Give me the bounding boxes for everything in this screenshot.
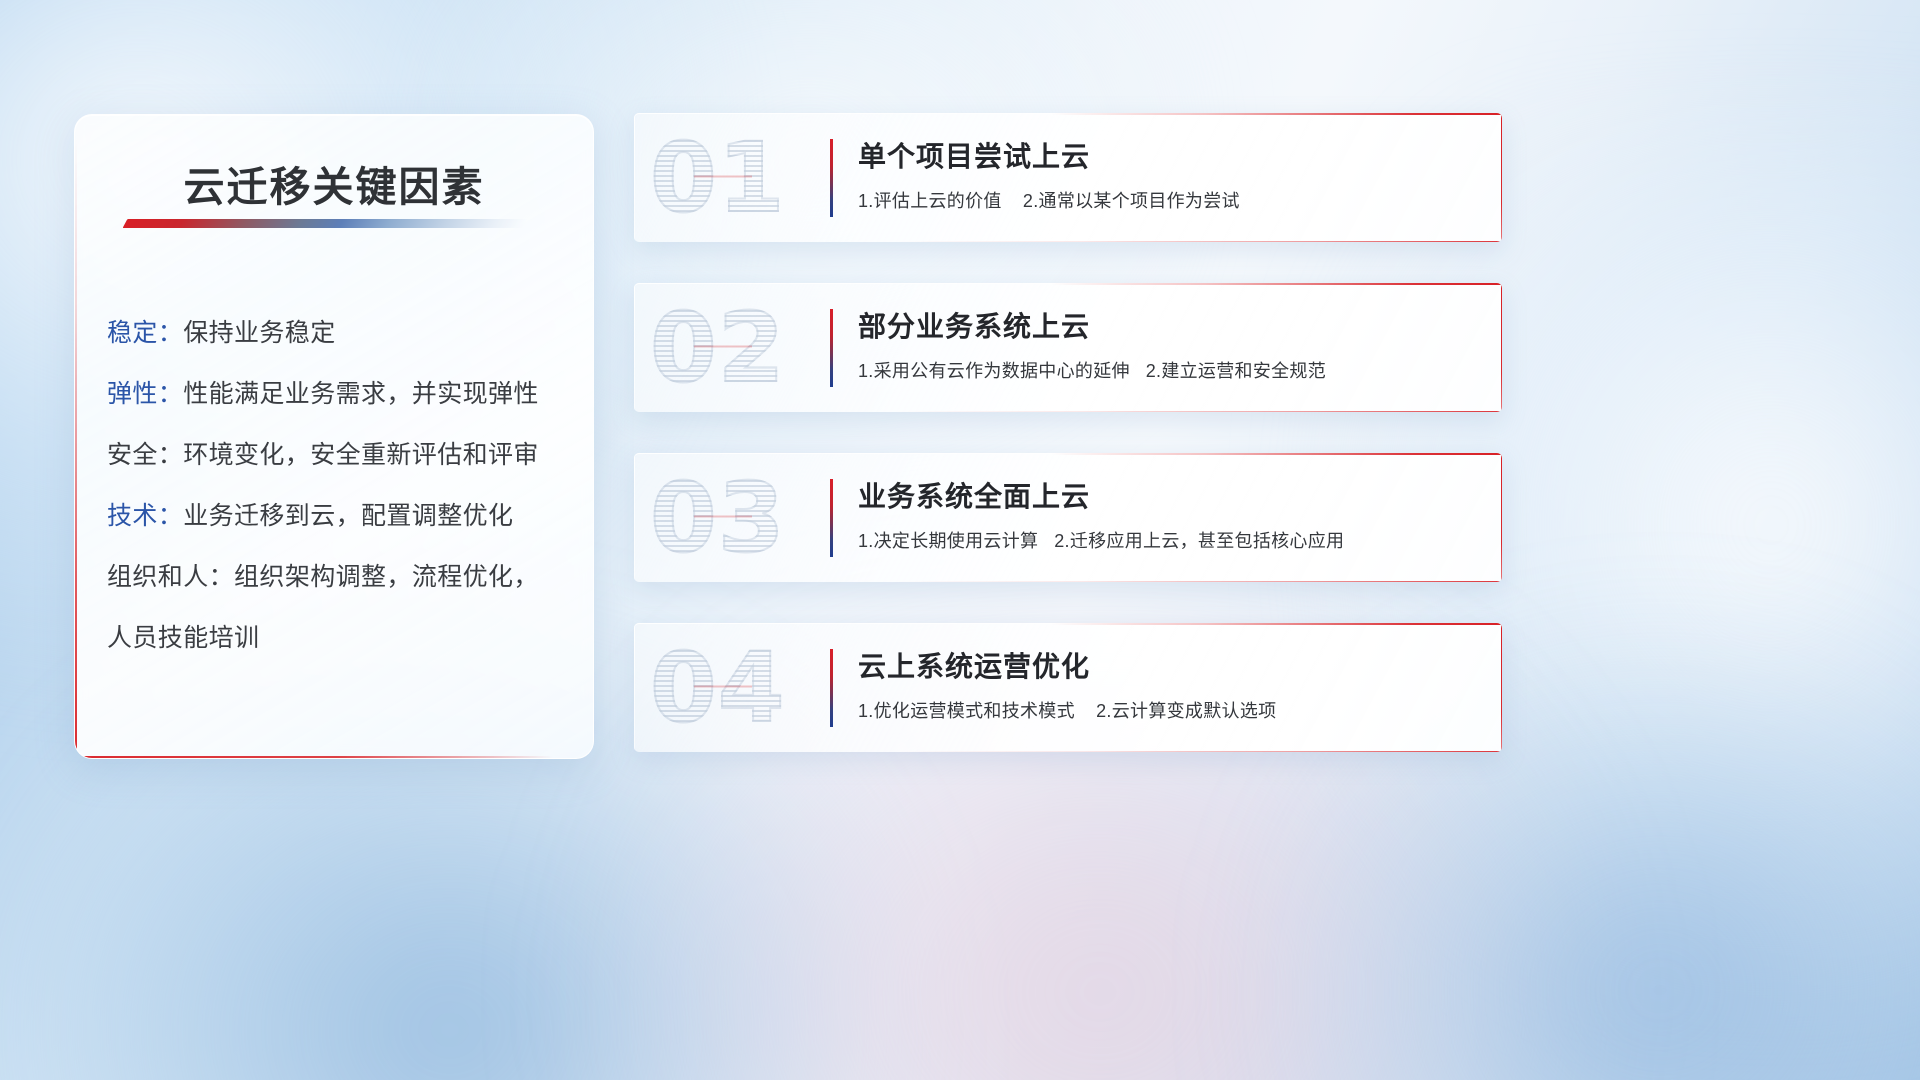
stage-description: 1.优化运营模式和技术模式 2.云计算变成默认选项 [858, 698, 1482, 724]
stage-title: 单个项目尝试上云 [858, 137, 1482, 177]
stage-body: 云上系统运营优化 1.优化运营模式和技术模式 2.云计算变成默认选项 [858, 647, 1482, 724]
card-edge-top [634, 623, 1502, 625]
stage-description: 1.采用公有云作为数据中心的延伸 2.建立运营和安全规范 [858, 358, 1482, 384]
factor-label: 稳定： [107, 319, 183, 347]
stage-number: 03 [650, 470, 786, 566]
stage-card-04[interactable]: 04 云上系统运营优化 1.优化运营模式和技术模式 2.云计算变成默认选项 [634, 623, 1502, 752]
stage-title: 部分业务系统上云 [858, 307, 1482, 347]
stage-body: 单个项目尝试上云 1.评估上云的价值 2.通常以某个项目作为尝试 [858, 137, 1482, 214]
stage-card-03[interactable]: 03 业务系统全面上云 1.决定长期使用云计算 2.迁移应用上云，甚至包括核心应… [634, 453, 1502, 582]
stage-card-02[interactable]: 02 部分业务系统上云 1.采用公有云作为数据中心的延伸 2.建立运营和安全规范 [634, 283, 1502, 412]
stage-number: 02 [650, 300, 786, 396]
factor-text: 组织架构调整，流程优化， [234, 563, 539, 591]
migration-stages-list: 01 单个项目尝试上云 1.评估上云的价值 2.通常以某个项目作为尝试 02 部… [634, 113, 1502, 752]
card-edge-right [1501, 283, 1503, 412]
card-edge-left [634, 453, 635, 582]
stage-divider-bar [830, 139, 833, 217]
stage-number: 04 [650, 640, 786, 736]
title-underline-rule [123, 219, 528, 228]
card-edge-bottom [634, 581, 1502, 583]
factor-item-elasticity: 弹性：性能满足业务需求，并实现弹性 [107, 364, 571, 425]
card-edge-left [634, 623, 635, 752]
card-edge-left [634, 283, 635, 412]
stage-title: 业务系统全面上云 [858, 477, 1482, 517]
card-edge-right [1501, 623, 1503, 752]
factor-text: 性能满足业务需求，并实现弹性 [183, 380, 539, 408]
factor-item-stability: 稳定：保持业务稳定 [107, 303, 571, 364]
card-edge-top [634, 113, 1502, 115]
factor-text: 人员技能培训 [107, 624, 259, 652]
stage-divider-bar [830, 479, 833, 557]
factor-label: 安全： [107, 441, 183, 469]
stage-divider-bar [830, 649, 833, 727]
card-edge-bottom [634, 411, 1502, 413]
factor-label: 组织和人： [107, 563, 234, 591]
stage-description: 1.评估上云的价值 2.通常以某个项目作为尝试 [858, 188, 1482, 214]
factor-item-technology: 技术：业务迁移到云，配置调整优化 [107, 486, 571, 547]
card-edge-left [634, 113, 635, 242]
card-edge-top [634, 453, 1502, 455]
card-edge-bottom [634, 241, 1502, 243]
card-edge-right [1501, 453, 1503, 582]
factor-label: 弹性： [107, 380, 183, 408]
card-edge-bottom [634, 751, 1502, 753]
factor-text: 业务迁移到云，配置调整优化 [183, 502, 513, 530]
factor-item-organization: 组织和人：组织架构调整，流程优化， [107, 547, 571, 608]
stage-number: 01 [650, 130, 786, 226]
factor-label: 技术： [107, 502, 183, 530]
key-factors-list: 稳定：保持业务稳定 弹性：性能满足业务需求，并实现弹性 安全：环境变化，安全重新… [107, 303, 571, 669]
card-accent-edge-left [75, 137, 77, 758]
key-factors-card: 云迁移关键因素 稳定：保持业务稳定 弹性：性能满足业务需求，并实现弹性 安全：环… [74, 114, 594, 759]
factor-text: 保持业务稳定 [183, 319, 335, 347]
card-accent-edge-bottom [75, 756, 553, 758]
factor-text: 环境变化，安全重新评估和评审 [183, 441, 539, 469]
factor-item-organization-continued: 人员技能培训 [107, 608, 571, 669]
page-title: 云迁移关键因素 [75, 153, 593, 213]
stage-description: 1.决定长期使用云计算 2.迁移应用上云，甚至包括核心应用 [858, 528, 1482, 554]
stage-title: 云上系统运营优化 [858, 647, 1482, 687]
stage-body: 业务系统全面上云 1.决定长期使用云计算 2.迁移应用上云，甚至包括核心应用 [858, 477, 1482, 554]
factor-item-security: 安全：环境变化，安全重新评估和评审 [107, 425, 571, 486]
stage-body: 部分业务系统上云 1.采用公有云作为数据中心的延伸 2.建立运营和安全规范 [858, 307, 1482, 384]
stage-divider-bar [830, 309, 833, 387]
card-edge-right [1501, 113, 1503, 242]
stage-card-01[interactable]: 01 单个项目尝试上云 1.评估上云的价值 2.通常以某个项目作为尝试 [634, 113, 1502, 242]
card-edge-top [634, 283, 1502, 285]
slide-stage: 云迁移关键因素 稳定：保持业务稳定 弹性：性能满足业务需求，并实现弹性 安全：环… [0, 0, 1920, 1080]
